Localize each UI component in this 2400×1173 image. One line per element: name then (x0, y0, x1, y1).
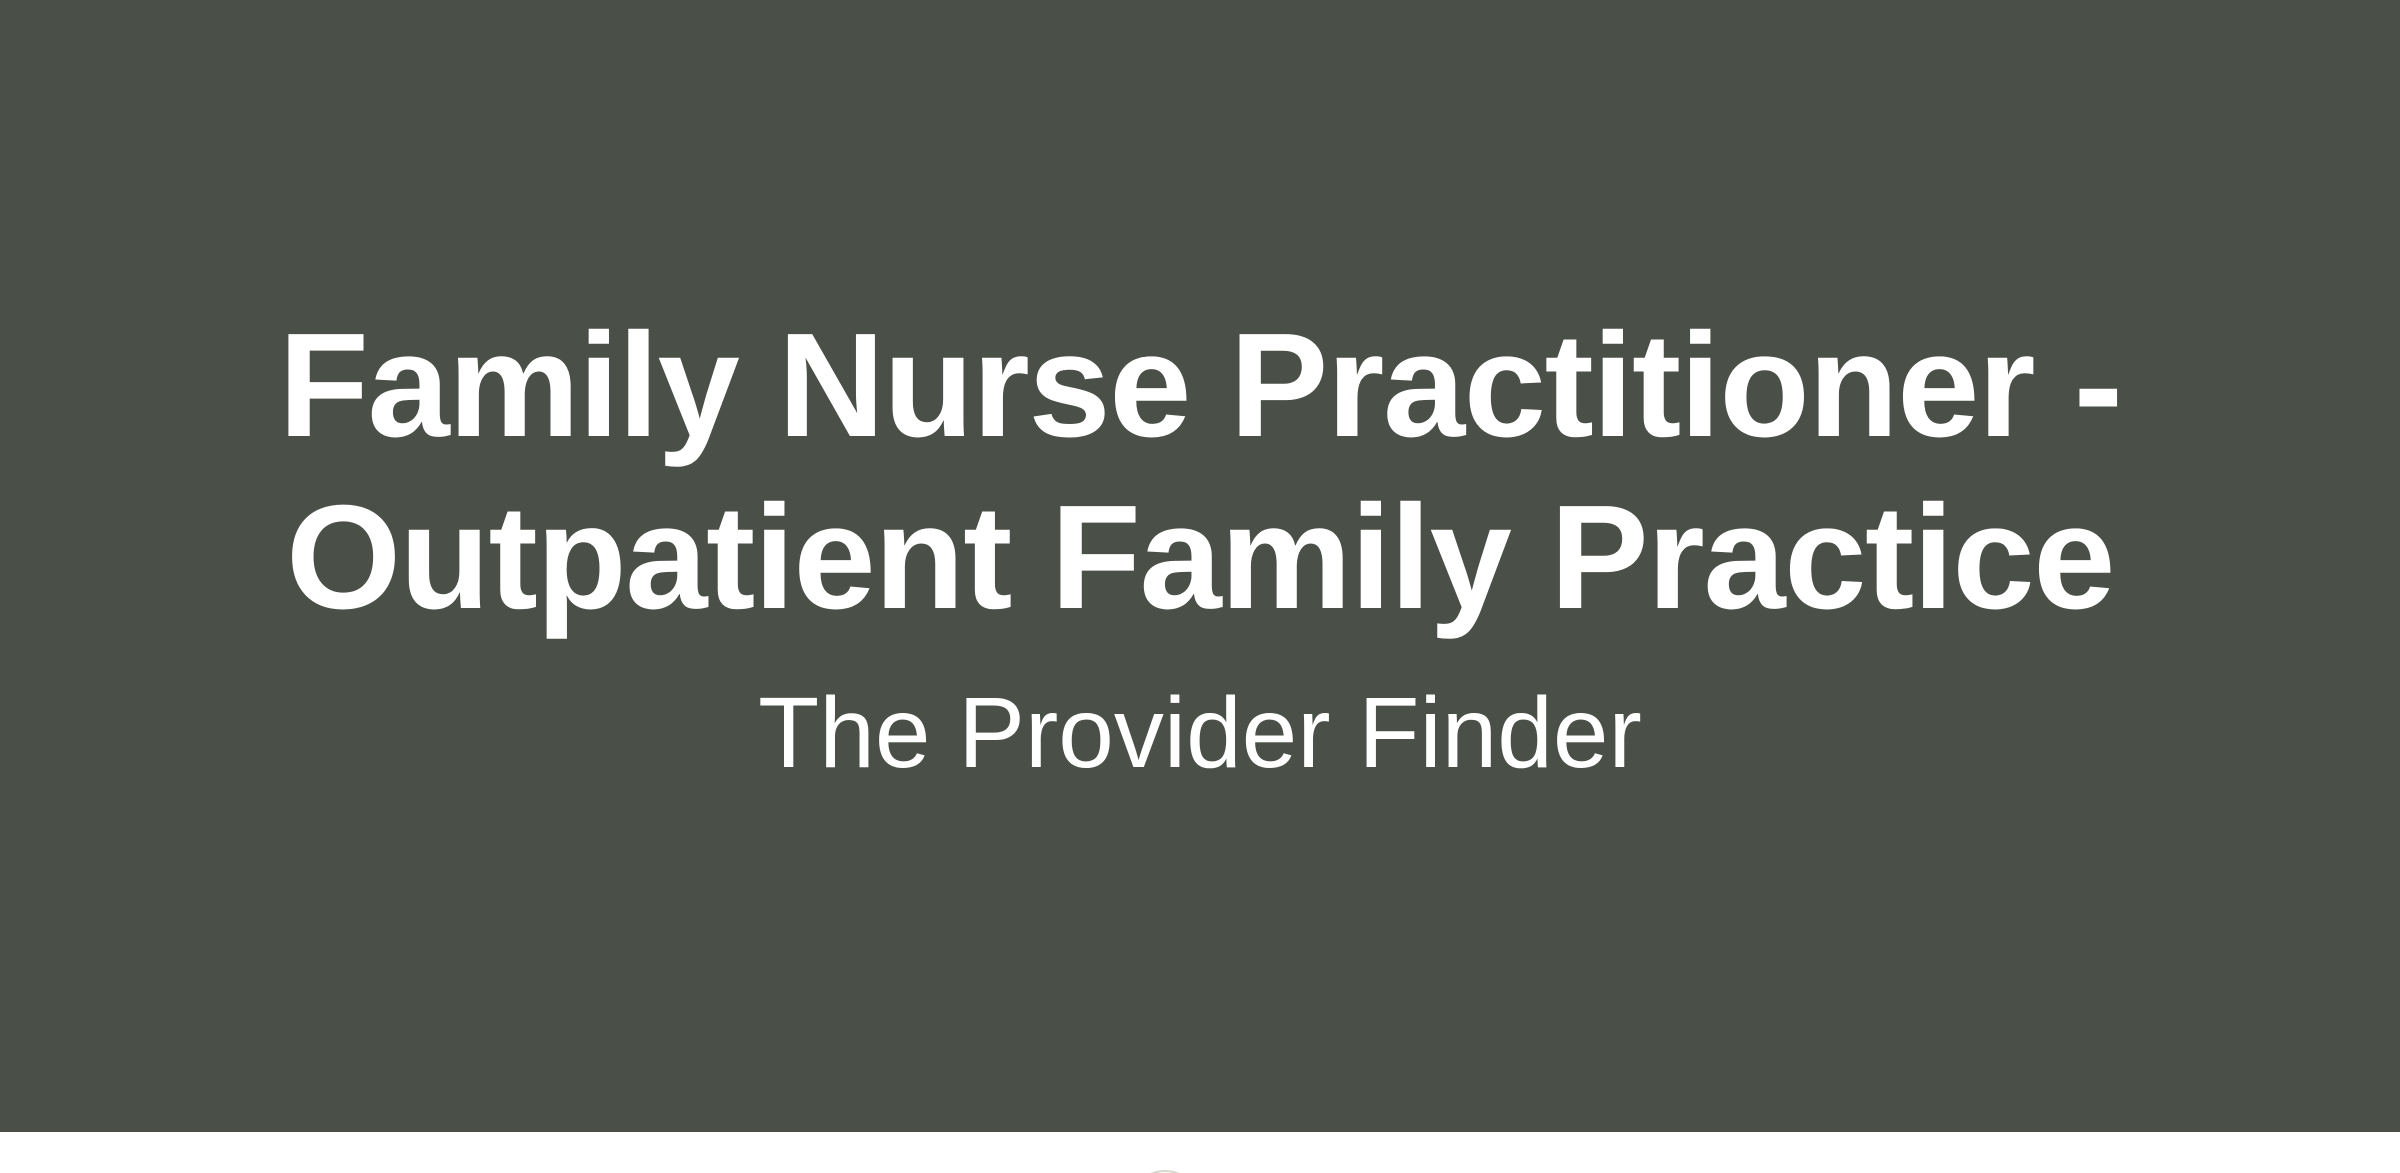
page-title: Family Nurse Practitioner - Outpatient F… (240, 300, 2160, 643)
page-subtitle: The Provider Finder (240, 673, 2160, 793)
hero-text-block: Family Nurse Practitioner - Outpatient F… (240, 300, 2160, 793)
page-root: Family Nurse Practitioner - Outpatient F… (0, 0, 2400, 1173)
hero-banner: Family Nurse Practitioner - Outpatient F… (0, 0, 2400, 1132)
content-area (0, 1132, 2400, 1173)
